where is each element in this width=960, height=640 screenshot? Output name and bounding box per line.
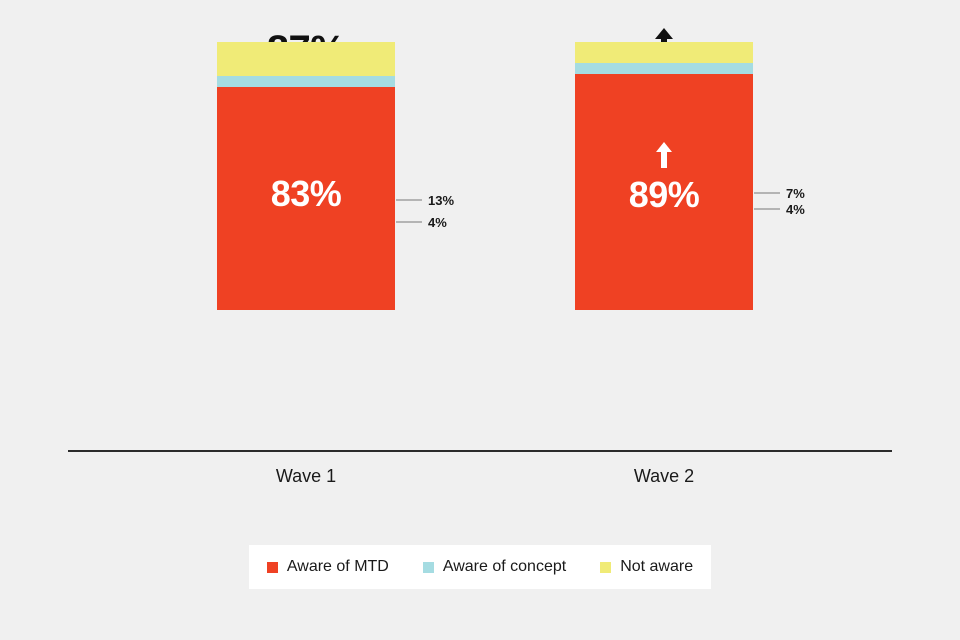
- legend-item-not-aware[interactable]: Not aware: [600, 558, 693, 576]
- legend-swatch-icon: [423, 562, 434, 573]
- stacked-bar-wave-2: 89%: [575, 42, 753, 310]
- bar-segment-aware-of-mtd: 83%: [217, 87, 395, 310]
- legend-label: Aware of MTD: [287, 558, 389, 576]
- bar-segment-aware-of-mtd: 89%: [575, 74, 753, 310]
- chart-legend: Aware of MTD Aware of concept Not aware: [249, 545, 711, 589]
- bar-value-label-group: 83%: [217, 175, 395, 213]
- legend-item-aware-of-mtd[interactable]: Aware of MTD: [267, 558, 389, 576]
- chart-column-wave-2: 93% NET aware of MTD or concept 89% Wave…: [514, 0, 814, 500]
- category-label-wave-1: Wave 1: [156, 466, 456, 487]
- legend-label: Aware of concept: [443, 558, 566, 576]
- bar-value-label: 89%: [575, 176, 753, 214]
- bar-value-label-group: 89%: [575, 142, 753, 214]
- callout-not-aware-wave-1: 13%: [396, 192, 454, 208]
- callout-label: 13%: [428, 193, 454, 208]
- chart-column-wave-1: 87% NET aware of MTD or concept 83% Wave…: [156, 0, 456, 500]
- callout-label: 7%: [786, 186, 805, 201]
- bar-segment-not-aware: [217, 42, 395, 76]
- leader-line: [396, 199, 422, 201]
- callout-label: 4%: [786, 202, 805, 217]
- legend-item-aware-of-concept[interactable]: Aware of concept: [423, 558, 566, 576]
- leader-line: [754, 208, 780, 210]
- stacked-bar-wave-1: 83%: [217, 42, 395, 310]
- bar-segment-not-aware: [575, 42, 753, 63]
- stacked-bar-chart: 87% NET aware of MTD or concept 83% Wave…: [0, 0, 960, 640]
- bar-value-label: 83%: [217, 175, 395, 213]
- leader-line: [754, 192, 780, 194]
- legend-swatch-icon: [600, 562, 611, 573]
- category-label-wave-2: Wave 2: [514, 466, 814, 487]
- legend-swatch-icon: [267, 562, 278, 573]
- callout-aware-of-concept-wave-2: 4%: [754, 201, 805, 217]
- arrow-up-icon: [656, 142, 672, 168]
- callout-not-aware-wave-2: 7%: [754, 185, 805, 201]
- callout-aware-of-concept-wave-1: 4%: [396, 214, 447, 230]
- bar-segment-aware-of-concept: [575, 63, 753, 74]
- leader-line: [396, 221, 422, 223]
- axis-baseline: [68, 450, 892, 452]
- callout-label: 4%: [428, 215, 447, 230]
- bar-segment-aware-of-concept: [217, 76, 395, 87]
- legend-label: Not aware: [620, 558, 693, 576]
